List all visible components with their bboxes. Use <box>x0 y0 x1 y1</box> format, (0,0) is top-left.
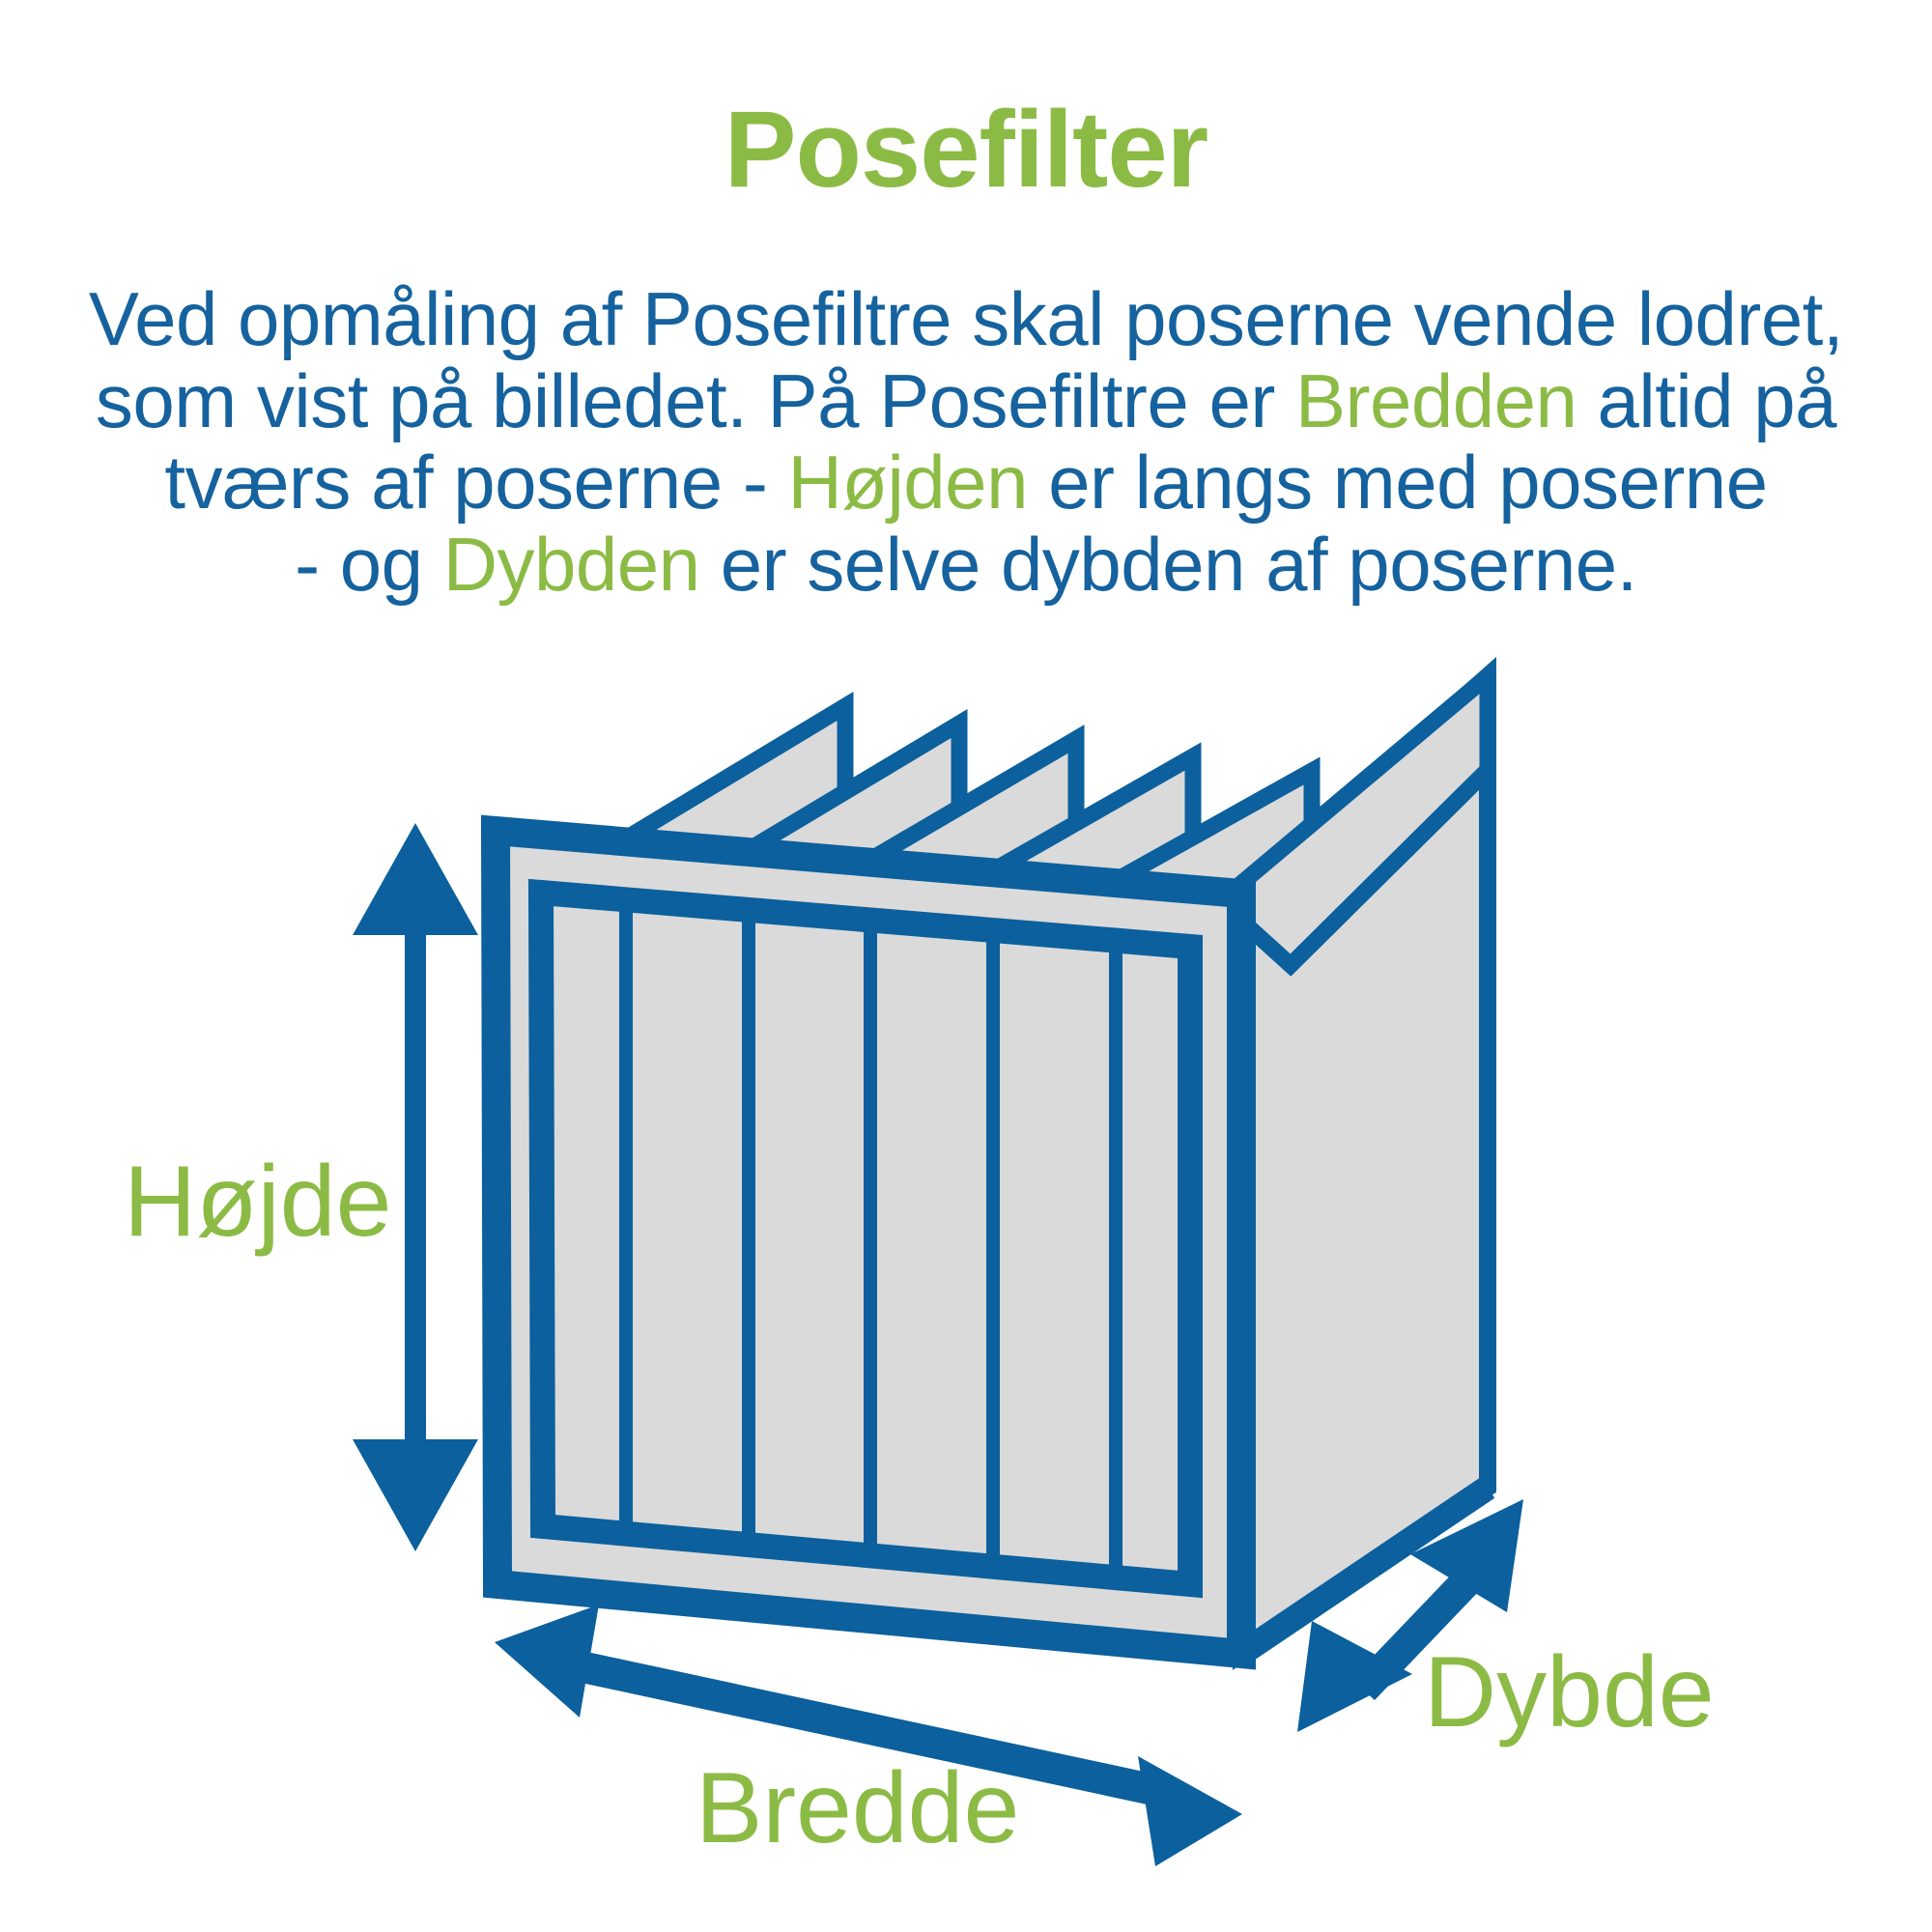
width-arrow-head-left <box>495 1605 599 1718</box>
poster-canvas: Posefilter Ved opmåling af Posefiltre sk… <box>0 0 1932 1932</box>
dimension-label-height: Højde <box>124 1151 391 1252</box>
height-arrow-head-up <box>353 823 478 935</box>
width-arrow-head-right <box>1138 1756 1242 1866</box>
height-arrow-head-down <box>353 1439 478 1551</box>
dimension-label-depth: Dybde <box>1424 1642 1715 1743</box>
dimension-label-width: Bredde <box>696 1758 1019 1859</box>
